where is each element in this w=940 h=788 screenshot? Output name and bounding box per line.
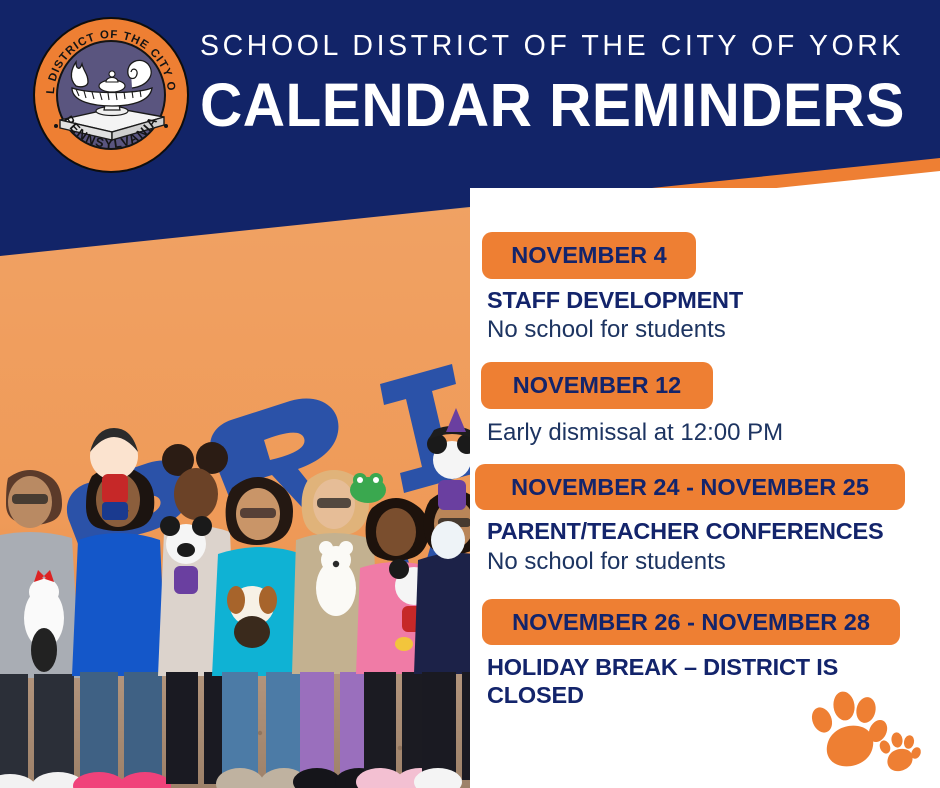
event-subtitle-2: Early dismissal at 12:00 PM [487,419,783,447]
event-date-badge-1: NOVEMBER 4 [482,232,696,279]
event-title-1: STAFF DEVELOPMENT [487,287,743,314]
district-seal-logo: SCHOOL DISTRICT OF THE CITY OF YORK PENN… [32,16,190,174]
event-date-badge-2: NOVEMBER 12 [481,362,713,409]
event-subtitle-3: No school for students [487,548,726,576]
page-title: CALENDAR REMINDERS [200,75,905,136]
district-name: SCHOOL DISTRICT OF THE CITY OF YORK [200,32,934,61]
event-date-badge-4: NOVEMBER 26 - NOVEMBER 28 [482,599,900,645]
students-photo [0,188,470,788]
header-text-block: SCHOOL DISTRICT OF THE CITY OF YORK CALE… [200,32,934,136]
event-subtitle-1: No school for students [487,316,726,344]
event-date-badge-3: NOVEMBER 24 - NOVEMBER 25 [475,464,905,510]
calendar-reminders-poster: SCHOOL DISTRICT OF THE CITY OF YORK PENN… [0,0,940,788]
event-title-3: PARENT/TEACHER CONFERENCES [487,518,884,545]
paw-prints-icon [806,686,930,778]
